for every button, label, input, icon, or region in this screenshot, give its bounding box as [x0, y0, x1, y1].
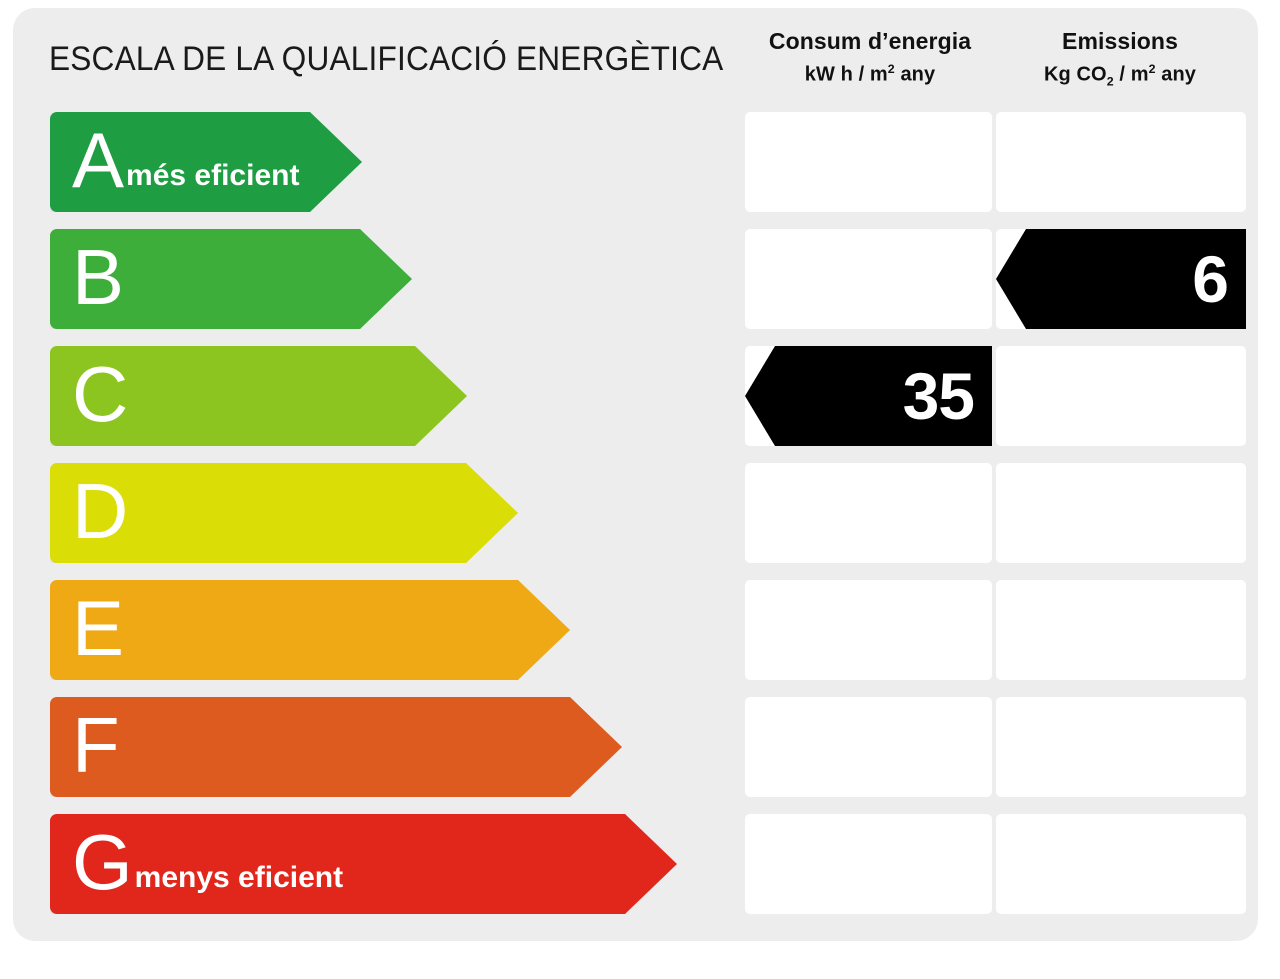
- value-badge-consumption: 35: [745, 346, 992, 446]
- column-header-emissions: Emissions Kg CO2 / m2 any: [995, 30, 1245, 88]
- value-cell-consumption: 35: [745, 346, 992, 446]
- page-title: ESCALA DE LA QUALIFICACIÓ ENERGÈTICA: [49, 40, 723, 79]
- value-cell-emissions: [996, 346, 1246, 446]
- energy-band-row: B6: [13, 221, 1258, 338]
- band-letter: F: [72, 706, 120, 784]
- column-header-consumption: Consum d’energia kW h / m2 any: [745, 30, 995, 85]
- least-efficient-note: menys eficient: [135, 861, 343, 895]
- value-cell-emissions: [996, 463, 1246, 563]
- energy-band-c: C: [50, 346, 467, 446]
- consumption-units-suffix: any: [895, 64, 935, 86]
- energy-band-d: D: [50, 463, 518, 563]
- energy-band-row: Amés eficient: [13, 104, 1258, 221]
- value-cell-emissions: [996, 814, 1246, 914]
- value-cell-consumption: [745, 580, 992, 680]
- energy-band-a: Amés eficient: [50, 112, 362, 212]
- band-letter: D: [72, 472, 128, 550]
- band-letter: C: [72, 355, 128, 433]
- band-letter: A: [72, 121, 124, 199]
- value-cell-consumption: [745, 463, 992, 563]
- energy-band-f: F: [50, 697, 622, 797]
- energy-band-e: E: [50, 580, 570, 680]
- emissions-units-suffix: any: [1156, 64, 1196, 86]
- value-cell-emissions: [996, 112, 1246, 212]
- energy-band-rows: Amés eficientB6C35DEFGmenys eficient: [13, 104, 1258, 923]
- band-letter: E: [72, 589, 124, 667]
- value-cell-consumption: [745, 814, 992, 914]
- value-cell-consumption: [745, 229, 992, 329]
- emissions-units-mid: / m: [1114, 64, 1149, 86]
- value-cell-emissions: [996, 697, 1246, 797]
- consumption-units-prefix: kW h / m: [805, 64, 888, 86]
- energy-label-panel: ESCALA DE LA QUALIFICACIÓ ENERGÈTICA Con…: [13, 8, 1258, 941]
- energy-band-g: Gmenys eficient: [50, 814, 677, 914]
- consumption-units-exponent: 2: [888, 62, 895, 76]
- energy-band-row: F: [13, 689, 1258, 806]
- energy-band-row: E: [13, 572, 1258, 689]
- emissions-units-exponent: 2: [1149, 62, 1156, 76]
- label-header: ESCALA DE LA QUALIFICACIÓ ENERGÈTICA Con…: [13, 8, 1258, 104]
- emissions-units-subscript: 2: [1107, 75, 1114, 89]
- value-cell-emissions: 6: [996, 229, 1246, 329]
- value-badge-text: 6: [1192, 246, 1228, 312]
- band-letter: B: [72, 238, 124, 316]
- energy-band-row: C35: [13, 338, 1258, 455]
- column-header-consumption-label: Consum d’energia: [745, 30, 995, 53]
- value-badge-emissions: 6: [996, 229, 1246, 329]
- energy-label: ESCALA DE LA QUALIFICACIÓ ENERGÈTICA Con…: [0, 0, 1280, 979]
- column-header-emissions-label: Emissions: [995, 30, 1245, 53]
- column-header-emissions-units: Kg CO2 / m2 any: [995, 63, 1245, 88]
- most-efficient-note: més eficient: [126, 159, 299, 193]
- value-cell-emissions: [996, 580, 1246, 680]
- emissions-units-prefix: Kg CO: [1044, 64, 1107, 86]
- column-header-consumption-units: kW h / m2 any: [745, 63, 995, 85]
- energy-band-row: Gmenys eficient: [13, 806, 1258, 923]
- energy-band-row: D: [13, 455, 1258, 572]
- value-cell-consumption: [745, 112, 992, 212]
- value-cell-consumption: [745, 697, 992, 797]
- band-letter: G: [72, 823, 133, 901]
- value-badge-text: 35: [903, 363, 974, 429]
- energy-band-b: B: [50, 229, 412, 329]
